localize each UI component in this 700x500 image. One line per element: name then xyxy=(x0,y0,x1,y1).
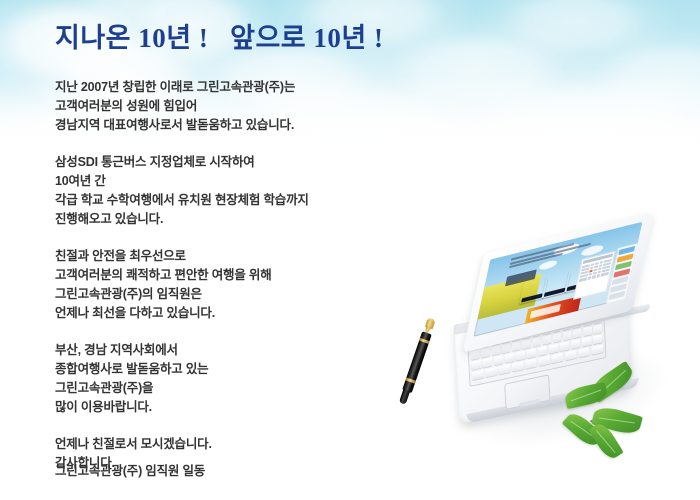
cloud-shape xyxy=(430,66,700,178)
photo-composition xyxy=(395,238,700,500)
greeting-page: 지나온 10년 ! 앞으로 10년 ! 지난 2007년 창립한 이래로 그린고… xyxy=(0,0,700,500)
leaf-sprig-image xyxy=(541,370,661,462)
cloud-shape xyxy=(470,0,680,68)
pen-end-cap xyxy=(399,389,410,405)
paragraph: 지난 2007년 창립한 이래로 그린고속관광(주)는 고객여러분의 성원에 힘… xyxy=(55,78,455,135)
fountain-pen-image xyxy=(396,317,436,408)
page-headline: 지나온 10년 ! 앞으로 10년 ! xyxy=(55,22,383,54)
signature-line: 그린고속관광(주) 임직원 일동 xyxy=(55,462,205,481)
leaf xyxy=(563,382,608,409)
paragraph: 삼성SDI 통근버스 지정업체로 시작하여 10여년 간 각급 학교 수학여행에… xyxy=(55,153,455,229)
cloud-shape xyxy=(560,26,700,136)
